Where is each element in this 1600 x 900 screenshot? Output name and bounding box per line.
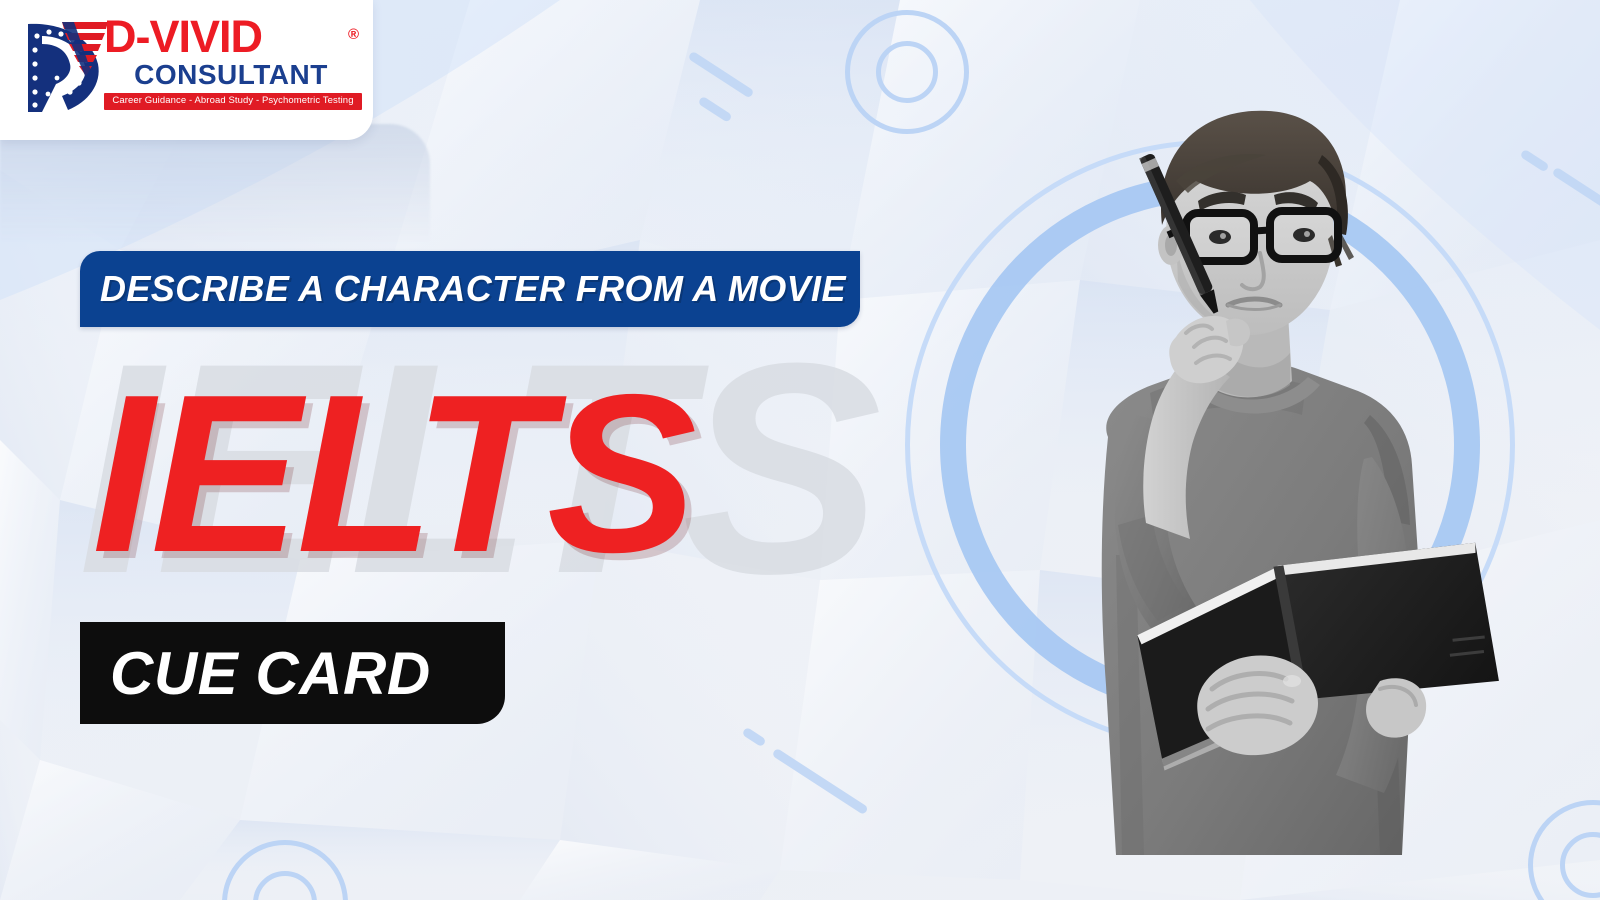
registered-trademark-icon: ®	[348, 12, 358, 58]
headline-banner: DESCRIBE A CHARACTER FROM A MOVIE	[80, 251, 860, 327]
brand-text-block: D-VIVID® CONSULTANT Career Guidance - Ab…	[104, 14, 362, 110]
cue-card-text: CUE CARD	[80, 639, 431, 708]
logo-plate-shadow	[0, 124, 430, 244]
brand-name-secondary: CONSULTANT	[104, 60, 362, 90]
ielts-title-text: IELTS	[92, 360, 693, 586]
cue-card-banner: CUE CARD	[80, 622, 505, 724]
headline-text: DESCRIBE A CHARACTER FROM A MOVIE	[80, 268, 846, 310]
dvivid-flag-d-emblem-icon	[22, 16, 108, 116]
decor-ring-top-right-inner	[876, 41, 938, 103]
brand-name-primary: D-VIVID®	[104, 14, 362, 60]
brand-name-primary-text: D-VIVID	[104, 11, 262, 62]
banner-canvas: IELTS	[0, 0, 1600, 900]
portrait-block	[900, 130, 1540, 850]
portrait-photo-woman-with-notebook	[940, 85, 1500, 855]
brand-logo-plate[interactable]: D-VIVID® CONSULTANT Career Guidance - Ab…	[0, 0, 373, 140]
brand-tagline: Career Guidance - Abroad Study - Psychom…	[104, 93, 362, 110]
